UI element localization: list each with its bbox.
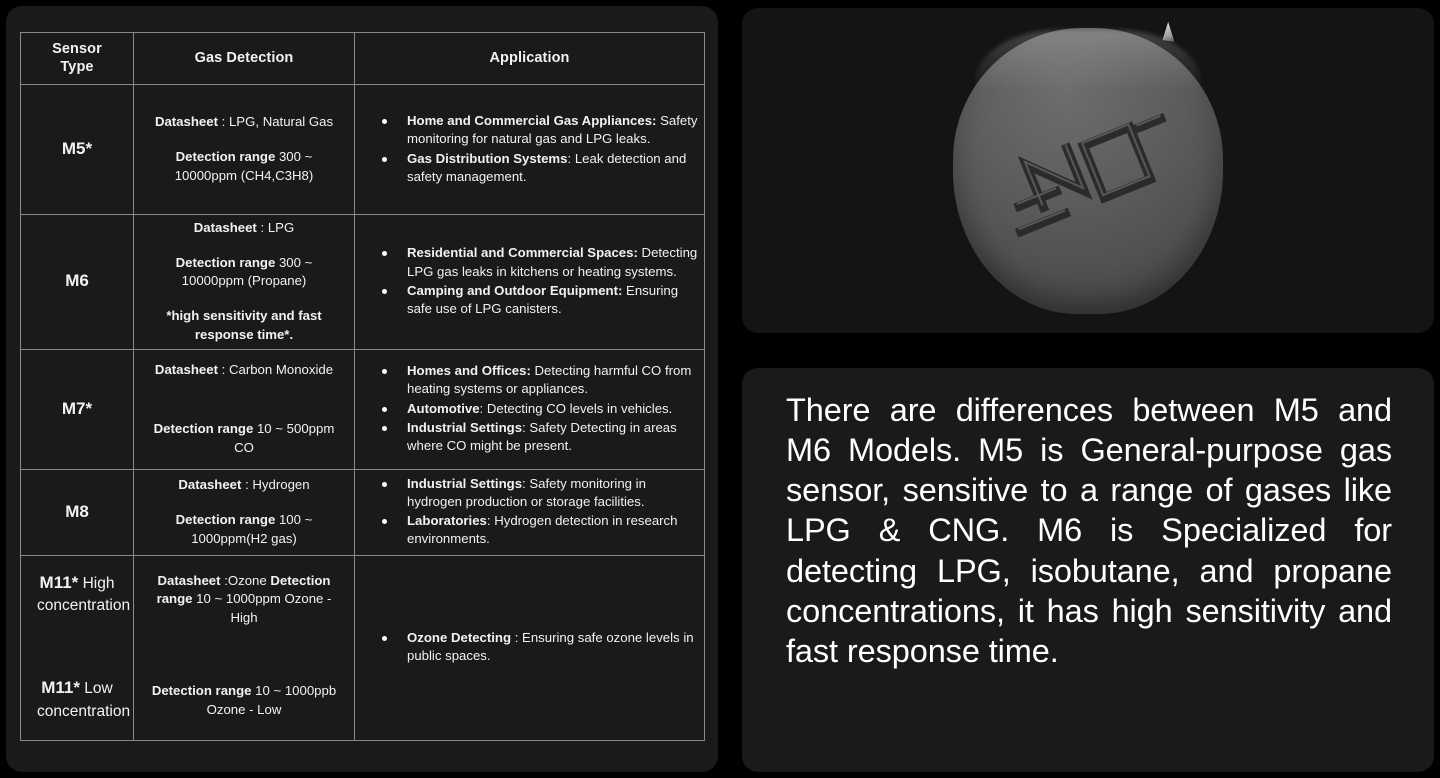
range-value-1: 10 ~ 1000ppb xyxy=(251,683,336,698)
datasheet-label: Datasheet xyxy=(158,573,221,588)
sensor-table-panel: Sensor Type Gas Detection Application M5… xyxy=(6,6,718,772)
application-title: Homes and Offices: xyxy=(407,363,531,378)
sensor-comparison-table: Sensor Type Gas Detection Application M5… xyxy=(20,32,705,741)
neo-logo-icon xyxy=(979,84,1196,257)
application-body: : Detecting CO levels in vehicles. xyxy=(480,401,673,416)
list-item: Camping and Outdoor Equipment: Ensuring … xyxy=(361,282,698,318)
datasheet-label: Datasheet xyxy=(155,114,218,129)
cell-gas-detection: Datasheet : Carbon Monoxide Detection ra… xyxy=(134,349,355,469)
application-title: Home and Commercial Gas Appliances: xyxy=(407,113,656,128)
description-panel: There are differences between M5 and M6 … xyxy=(742,368,1434,772)
datasheet-line: Datasheet :Ozone xyxy=(158,573,271,588)
detection-range-line1: Detection range 300 ~ xyxy=(140,148,348,167)
table-row: M8 Datasheet : Hydrogen Detection range … xyxy=(21,469,705,555)
cell-application: Industrial Settings: Safety monitoring i… xyxy=(355,469,705,555)
datasheet-value: : Hydrogen xyxy=(241,477,309,492)
range-label: Detection range xyxy=(154,421,254,436)
cell-sensor-type: M6 xyxy=(21,215,134,350)
list-item: Automotive: Detecting CO levels in vehic… xyxy=(361,400,698,418)
datasheet-value: : LPG, Natural Gas xyxy=(218,114,333,129)
datasheet-label: Datasheet xyxy=(194,220,257,235)
table-row: M5* Datasheet : LPG, Natural Gas Detecti… xyxy=(21,85,705,215)
cell-application: Home and Commercial Gas Appliances: Safe… xyxy=(355,85,705,215)
list-item: Home and Commercial Gas Appliances: Safe… xyxy=(361,112,698,148)
application-title: Industrial Settings xyxy=(407,476,522,491)
cell-application: Ozone Detecting : Ensuring safe ozone le… xyxy=(355,555,705,740)
gap xyxy=(140,380,348,420)
cell-gas-detection: Datasheet : LPG Detection range 300 ~ 10… xyxy=(134,215,355,350)
cell-gas-detection: Datasheet : Hydrogen Detection range 100… xyxy=(134,469,355,555)
datasheet-value: : LPG xyxy=(257,220,294,235)
column-header-application: Application xyxy=(355,33,705,85)
gap xyxy=(140,495,348,511)
cell-sensor-type: M7* xyxy=(21,349,134,469)
gap xyxy=(140,132,348,148)
application-title: Laboratories xyxy=(407,513,487,528)
detection-range-line2: 10000ppm (CH4,C3H8) xyxy=(140,167,348,186)
detection-range-line1: Detection range 10 ~ 1000ppb xyxy=(152,683,336,698)
application-title: Automotive xyxy=(407,401,480,416)
gap xyxy=(140,238,348,254)
range-label: Detection range xyxy=(176,149,276,164)
range-label: Detection range xyxy=(176,255,276,270)
table-header: Sensor Type Gas Detection Application xyxy=(21,33,705,85)
sensitivity-note: *high sensitivity and fast response time… xyxy=(140,307,348,344)
m11-high-code: M11* xyxy=(40,573,79,592)
list-item: Gas Distribution Systems: Leak detection… xyxy=(361,150,698,186)
application-list: Home and Commercial Gas Appliances: Safe… xyxy=(361,112,698,186)
range-value-1: 100 ~ xyxy=(275,512,312,527)
cell-gas-detection: Datasheet : LPG, Natural Gas Detection r… xyxy=(134,85,355,215)
cell-sensor-type: M8 xyxy=(21,469,134,555)
application-list: Homes and Offices: Detecting harmful CO … xyxy=(361,362,698,455)
table-row: M6 Datasheet : LPG Detection range 300 ~… xyxy=(21,215,705,350)
datasheet-line: Datasheet : LPG xyxy=(140,219,348,238)
list-item: Homes and Offices: Detecting harmful CO … xyxy=(361,362,698,398)
cell-sensor-type: M5* xyxy=(21,85,134,215)
cell-sensor-type: M11* High concentration M11* Low concent… xyxy=(21,555,134,740)
table-row: M7* Datasheet : Carbon Monoxide Detectio… xyxy=(21,349,705,469)
detection-range-line1: Detection range 10 ~ 500ppm xyxy=(140,420,348,439)
m11-gas-stack: Datasheet :Ozone Detection range 10 ~ 10… xyxy=(140,560,348,736)
table-row: M11* High concentration M11* Low concent… xyxy=(21,555,705,740)
range-label: Detection range xyxy=(176,512,276,527)
sensor-photo xyxy=(742,8,1434,333)
application-list: Industrial Settings: Safety monitoring i… xyxy=(361,475,698,549)
application-title: Residential and Commercial Spaces: xyxy=(407,245,638,260)
sensor-cap-body xyxy=(953,28,1223,314)
header-sensor-line2: Type xyxy=(60,59,93,75)
datasheet-label: Datasheet xyxy=(178,477,241,492)
datasheet-value: : Carbon Monoxide xyxy=(218,362,333,377)
range-value-1: 300 ~ xyxy=(275,255,312,270)
list-item: Residential and Commercial Spaces: Detec… xyxy=(361,244,698,280)
application-title: Gas Distribution Systems xyxy=(407,151,568,166)
detection-range-line2: 10000ppm (Propane) xyxy=(140,272,348,291)
list-item: Ozone Detecting : Ensuring safe ozone le… xyxy=(361,629,698,665)
m11-low-gas: Detection range 10 ~ 1000ppb Ozone - Low xyxy=(148,682,340,719)
list-item: Laboratories: Hydrogen detection in rese… xyxy=(361,512,698,548)
m11-high-gas: Datasheet :Ozone Detection range 10 ~ 10… xyxy=(148,572,340,628)
datasheet-value: :Ozone xyxy=(221,573,267,588)
application-title: Camping and Outdoor Equipment: xyxy=(407,283,622,298)
application-list: Residential and Commercial Spaces: Detec… xyxy=(361,244,698,318)
detection-range-line2: 1000ppm(H2 gas) xyxy=(140,530,348,549)
detection-range-line2: CO xyxy=(140,439,348,458)
detection-range-line1: Detection range 100 ~ xyxy=(140,511,348,530)
m11-low-code: M11* xyxy=(41,678,80,697)
range-value-1: 300 ~ xyxy=(275,149,312,164)
column-header-sensor-type: Sensor Type xyxy=(21,33,134,85)
application-title: Industrial Settings xyxy=(407,420,522,435)
range-value-1: 10 ~ 500ppm xyxy=(253,421,334,436)
list-item: Industrial Settings: Safety Detecting in… xyxy=(361,419,698,455)
cap-notch-icon xyxy=(1162,22,1174,42)
cap-highlight xyxy=(975,30,1202,104)
application-title: Ozone Detecting xyxy=(407,630,511,645)
cell-application: Homes and Offices: Detecting harmful CO … xyxy=(355,349,705,469)
m11-high-label: M11* High concentration xyxy=(37,572,117,616)
m11-sensor-stack: M11* High concentration M11* Low concent… xyxy=(27,560,127,736)
application-list: Ozone Detecting : Ensuring safe ozone le… xyxy=(361,629,698,665)
datasheet-line: Datasheet : Carbon Monoxide xyxy=(140,361,348,380)
screenshot-root: Sensor Type Gas Detection Application M5… xyxy=(0,0,1440,778)
datasheet-line: Datasheet : LPG, Natural Gas xyxy=(140,113,348,132)
detection-range-line1: Detection range 300 ~ xyxy=(140,254,348,273)
description-text: There are differences between M5 and M6 … xyxy=(786,390,1392,671)
datasheet-label: Datasheet xyxy=(155,362,218,377)
list-item: Industrial Settings: Safety monitoring i… xyxy=(361,475,698,511)
table-body: M5* Datasheet : LPG, Natural Gas Detecti… xyxy=(21,85,705,741)
range-label: Detection range xyxy=(152,683,252,698)
cell-gas-detection: Datasheet :Ozone Detection range 10 ~ 10… xyxy=(134,555,355,740)
column-header-gas-detection: Gas Detection xyxy=(134,33,355,85)
table-header-row: Sensor Type Gas Detection Application xyxy=(21,33,705,85)
header-sensor-line1: Sensor xyxy=(52,41,102,57)
m11-low-label: M11* Low concentration xyxy=(37,677,117,721)
detection-range-line2: Ozone - Low xyxy=(207,702,282,717)
datasheet-line: Datasheet : Hydrogen xyxy=(140,476,348,495)
detection-range-line2: 1000ppm Ozone - High xyxy=(226,591,332,625)
range-value-1: 10 ~ xyxy=(192,591,222,606)
cell-application: Residential and Commercial Spaces: Detec… xyxy=(355,215,705,350)
product-photo-panel xyxy=(742,8,1434,333)
